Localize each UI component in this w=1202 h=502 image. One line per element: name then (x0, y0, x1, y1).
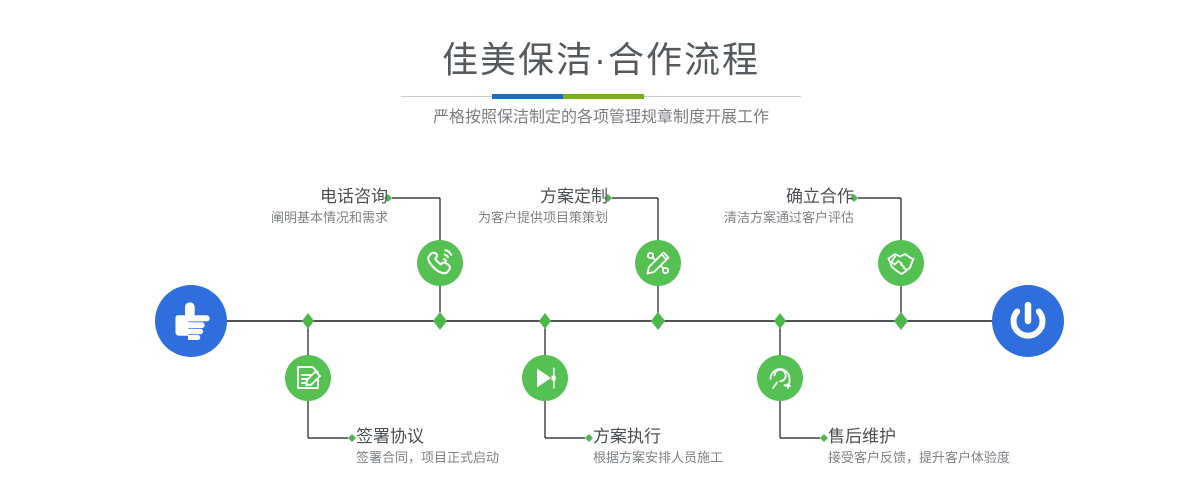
step-label-5: 确立合作 清洁方案通过客户评估 (590, 186, 854, 228)
phone-call-icon (417, 240, 463, 286)
step-icon-5[interactable] (878, 240, 924, 286)
play-execute-icon (522, 355, 568, 401)
step-desc-3: 为客户提供项目策策划 (345, 208, 608, 228)
handshake-icon (878, 240, 924, 286)
step-icon-3[interactable] (635, 240, 681, 286)
hand-point-right-icon (155, 285, 227, 357)
step-label-3: 方案定制 为客户提供项目策策划 (345, 186, 608, 228)
divider-accent-blue (492, 94, 563, 99)
step-icon-2[interactable] (285, 355, 331, 401)
title-divider (401, 94, 801, 100)
page-title: 佳美保洁·合作流程 (0, 38, 1202, 82)
process-flow-diagram: 电话咨询 阐明基本情况和需求 签署协议 签署合同，项目正式启动 (0, 150, 1202, 502)
divider-accent-green (563, 94, 644, 99)
power-button-icon (992, 285, 1064, 357)
step-title-6: 售后维护 (828, 426, 1158, 448)
page-header: 佳美保洁·合作流程 严格按照保洁制定的各项管理规章制度开展工作 (0, 0, 1202, 150)
step-desc-5: 清洁方案通过客户评估 (590, 208, 854, 228)
step-title-5: 确立合作 (590, 186, 854, 208)
headset-support-icon (757, 355, 803, 401)
step-icon-4[interactable] (522, 355, 568, 401)
step-label-6: 售后维护 接受客户反馈，提升客户体验度 (828, 426, 1158, 468)
flow-end-node[interactable] (992, 285, 1064, 357)
page-subtitle: 严格按照保洁制定的各项管理规章制度开展工作 (0, 106, 1202, 130)
step-icon-6[interactable] (757, 355, 803, 401)
step-desc-6: 接受客户反馈，提升客户体验度 (828, 448, 1158, 468)
step-title-3: 方案定制 (345, 186, 608, 208)
flow-start-node[interactable] (155, 285, 227, 357)
document-edit-icon (285, 355, 331, 401)
flow-chart-page: 佳美保洁·合作流程 严格按照保洁制定的各项管理规章制度开展工作 (0, 0, 1202, 502)
pencil-design-icon (635, 240, 681, 286)
step-icon-1[interactable] (417, 240, 463, 286)
